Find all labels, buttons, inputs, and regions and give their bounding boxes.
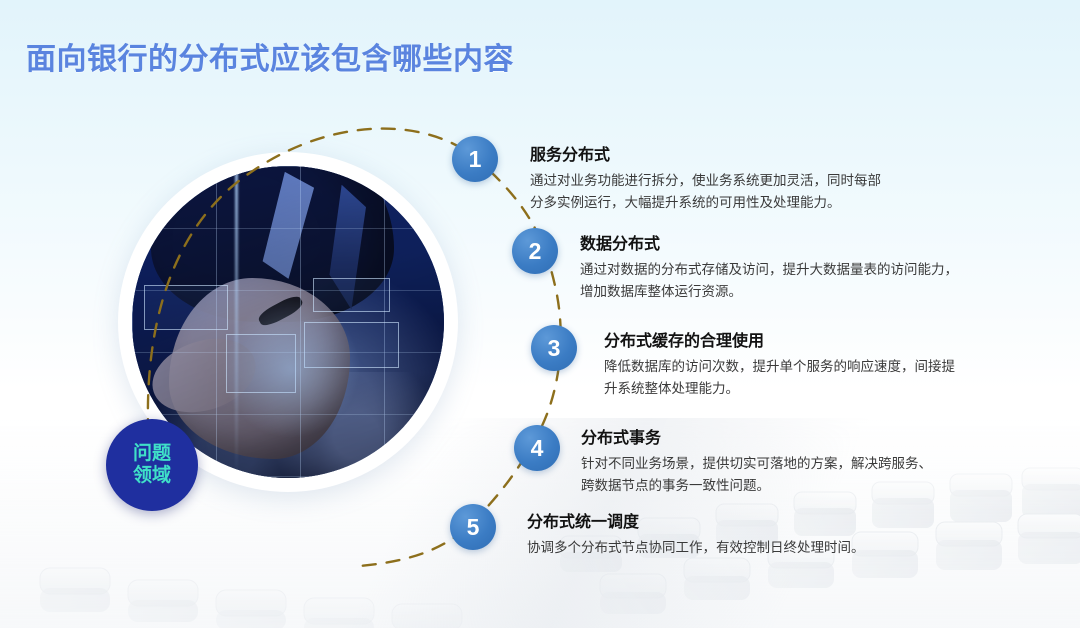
item-body: 针对不同业务场景，提供切实可落地的方案，解决跨服务、 跨数据节点的事务一致性问题… bbox=[581, 453, 1001, 497]
item-text-block: 服务分布式 通过对业务功能进行拆分，使业务系统更加灵活，同时每部 分多实例运行，… bbox=[530, 141, 950, 214]
item-body: 通过对数据的分布式存储及访问，提升大数据量表的访问能力， 增加数据库整体运行资源… bbox=[580, 259, 1010, 303]
item-heading: 分布式事务 bbox=[581, 424, 1001, 448]
item-text-block: 数据分布式 通过对数据的分布式存储及访问，提升大数据量表的访问能力， 增加数据库… bbox=[580, 230, 1010, 303]
item-number-badge: 2 bbox=[512, 228, 558, 274]
item-body: 协调多个分布式节点协同工作，有效控制日终处理时间。 bbox=[527, 537, 957, 559]
item-text-block: 分布式事务 针对不同业务场景，提供切实可落地的方案，解决跨服务、 跨数据节点的事… bbox=[581, 424, 1001, 497]
photo-hud-panel bbox=[144, 285, 227, 331]
item-heading: 数据分布式 bbox=[580, 230, 1010, 254]
item-number-badge: 3 bbox=[531, 325, 577, 371]
item-body: 降低数据库的访问次数，提升单个服务的响应速度，间接提 升系统整体处理能力。 bbox=[604, 356, 1024, 400]
item-text-block: 分布式统一调度 协调多个分布式节点协同工作，有效控制日终处理时间。 bbox=[527, 508, 957, 559]
item-heading: 服务分布式 bbox=[530, 141, 950, 165]
item-number-badge: 5 bbox=[450, 504, 496, 550]
photo-glow bbox=[219, 297, 363, 441]
page-title: 面向银行的分布式应该包含哪些内容 bbox=[26, 34, 514, 78]
slide-root: 面向银行的分布式应该包含哪些内容 问题 领域 1 bbox=[0, 0, 1080, 628]
problem-domain-badge: 问题 领域 bbox=[106, 419, 198, 511]
item-text-block: 分布式缓存的合理使用 降低数据库的访问次数，提升单个服务的响应速度，间接提 升系… bbox=[604, 327, 1024, 400]
item-number-badge: 1 bbox=[452, 136, 498, 182]
item-number-badge: 4 bbox=[514, 425, 560, 471]
badge-line-1: 问题 bbox=[133, 443, 171, 465]
badge-line-2: 领域 bbox=[133, 465, 171, 487]
item-heading: 分布式统一调度 bbox=[527, 508, 957, 532]
item-body: 通过对业务功能进行拆分，使业务系统更加灵活，同时每部 分多实例运行，大幅提升系统… bbox=[530, 170, 950, 214]
item-heading: 分布式缓存的合理使用 bbox=[604, 327, 1024, 351]
